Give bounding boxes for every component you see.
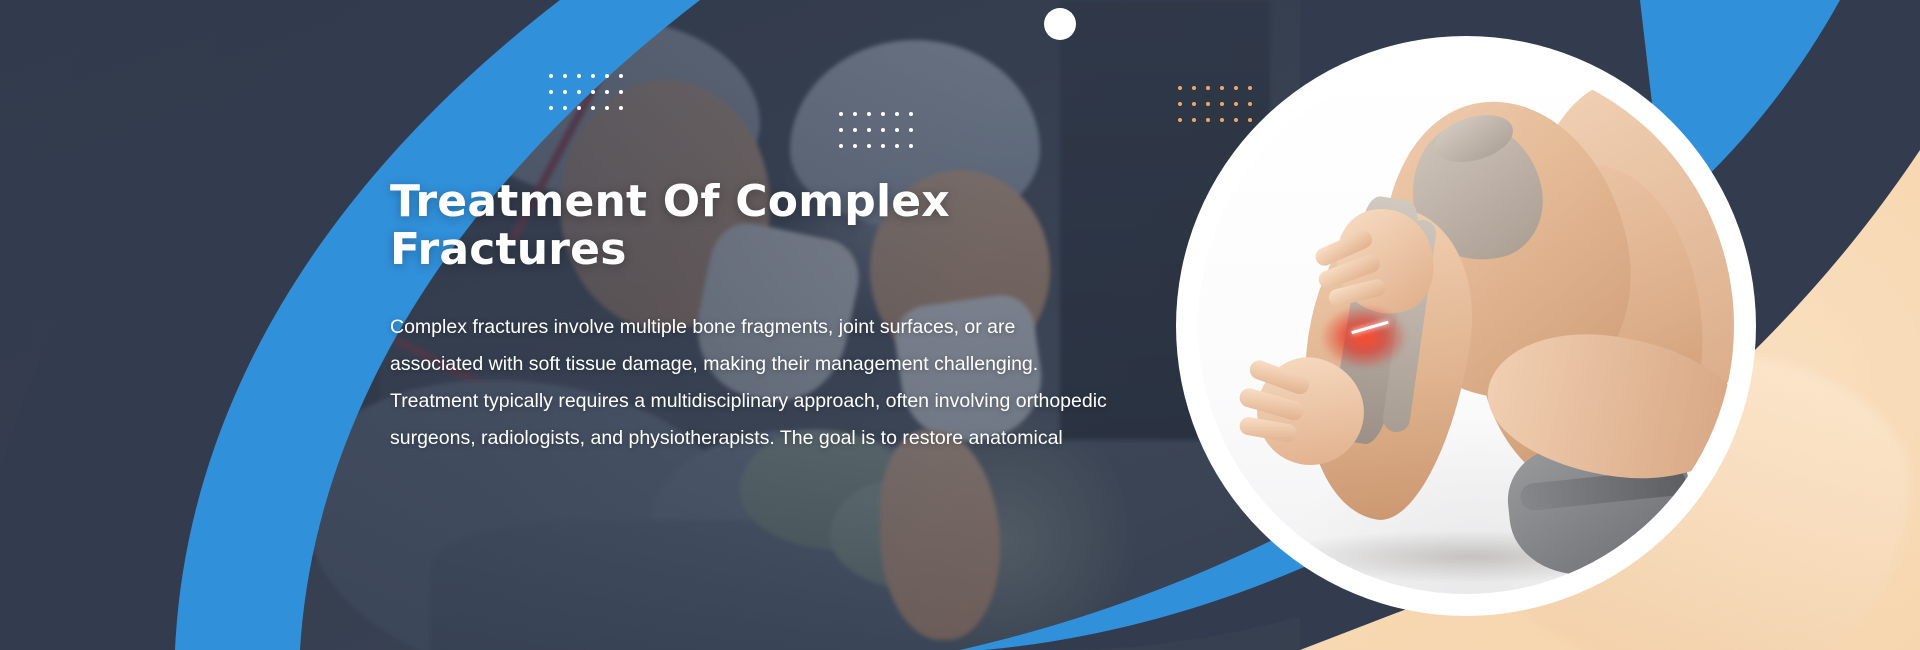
page-title: Treatment Of Complex Fractures (390, 178, 1130, 273)
leg-fracture-photo (1198, 58, 1734, 594)
white-circle-accent (1044, 8, 1076, 40)
hero-banner: Treatment Of Complex Fractures Complex f… (0, 0, 1920, 650)
hero-copy-block: Treatment Of Complex Fractures Complex f… (390, 178, 1130, 457)
hero-description: Complex fractures involve multiple bone … (390, 309, 1110, 457)
dot-grid-center (839, 112, 923, 160)
circular-photo-frame (1176, 36, 1756, 616)
dot-grid-left (549, 74, 633, 122)
dot-grid-right (1178, 86, 1262, 134)
